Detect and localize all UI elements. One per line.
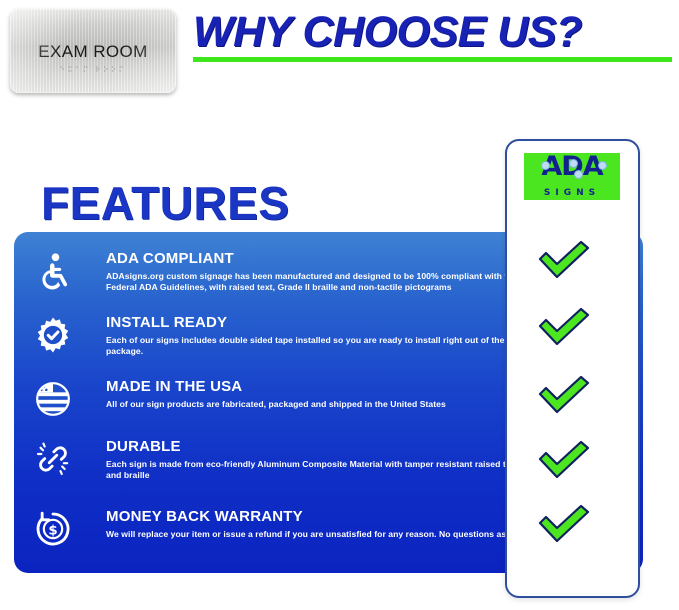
logo-dot-icon — [541, 161, 550, 170]
feature-text-block: DURABLE Each sign is made from eco-frien… — [106, 439, 526, 481]
feature-title: MADE IN THE USA — [106, 379, 526, 396]
page-title: WHY CHOOSE US? — [193, 8, 582, 57]
feature-description: We will replace your item or issue a ref… — [106, 529, 526, 540]
header: EXAM ROOM ⠑⠭⠁⠍ ⠗⠕⠕⠍ WHY CHOOSE US? — [0, 0, 679, 120]
green-checkmark-icon — [536, 501, 592, 545]
logo-dot-icon — [598, 161, 607, 170]
feature-title: DURABLE — [106, 439, 526, 456]
sign-braille-text: ⠑⠭⠁⠍ ⠗⠕⠕⠍ — [10, 66, 176, 74]
feature-text-block: ADA COMPLIANT ADAsigns.org custom signag… — [106, 251, 526, 293]
exam-room-sign: EXAM ROOM ⠑⠭⠁⠍ ⠗⠕⠕⠍ — [10, 9, 176, 93]
feature-title: ADA COMPLIANT — [106, 251, 526, 268]
feature-description: All of our sign products are fabricated,… — [106, 399, 526, 410]
logo-subtitle-text: SIGNS — [524, 188, 620, 198]
logo-dot-icon — [574, 170, 583, 179]
feature-text-block: INSTALL READY Each of our signs includes… — [106, 315, 526, 357]
green-checkmark-icon — [536, 237, 592, 281]
checklist-card: ADA SIGNS — [505, 139, 640, 598]
feature-description: ADAsigns.org custom signage has been man… — [106, 271, 526, 294]
wheelchair-accessible-icon — [32, 250, 74, 292]
feature-text-block: MONEY BACK WARRANTY We will replace your… — [106, 509, 526, 540]
chain-link-icon — [32, 438, 74, 480]
feature-title: INSTALL READY — [106, 315, 526, 332]
green-checkmark-icon — [536, 372, 592, 416]
feature-description: Each sign is made from eco-friendly Alum… — [106, 459, 526, 482]
feature-description: Each of our signs includes double sided … — [106, 335, 526, 358]
money-back-dollar-icon: $ — [32, 508, 74, 550]
green-checkmark-icon — [536, 304, 592, 348]
feature-text-block: MADE IN THE USA All of our sign products… — [106, 379, 526, 410]
ada-signs-logo: ADA SIGNS — [524, 153, 620, 200]
usa-flag-circle-icon — [32, 378, 74, 420]
title-underline-rule — [193, 57, 672, 62]
logo-dot-icon — [569, 159, 578, 168]
feature-title: MONEY BACK WARRANTY — [106, 509, 526, 526]
svg-text:$: $ — [48, 523, 57, 538]
green-checkmark-icon — [536, 437, 592, 481]
sign-text: EXAM ROOM — [10, 42, 176, 62]
features-heading: FEATURES — [41, 176, 290, 230]
gear-check-icon — [32, 314, 74, 356]
